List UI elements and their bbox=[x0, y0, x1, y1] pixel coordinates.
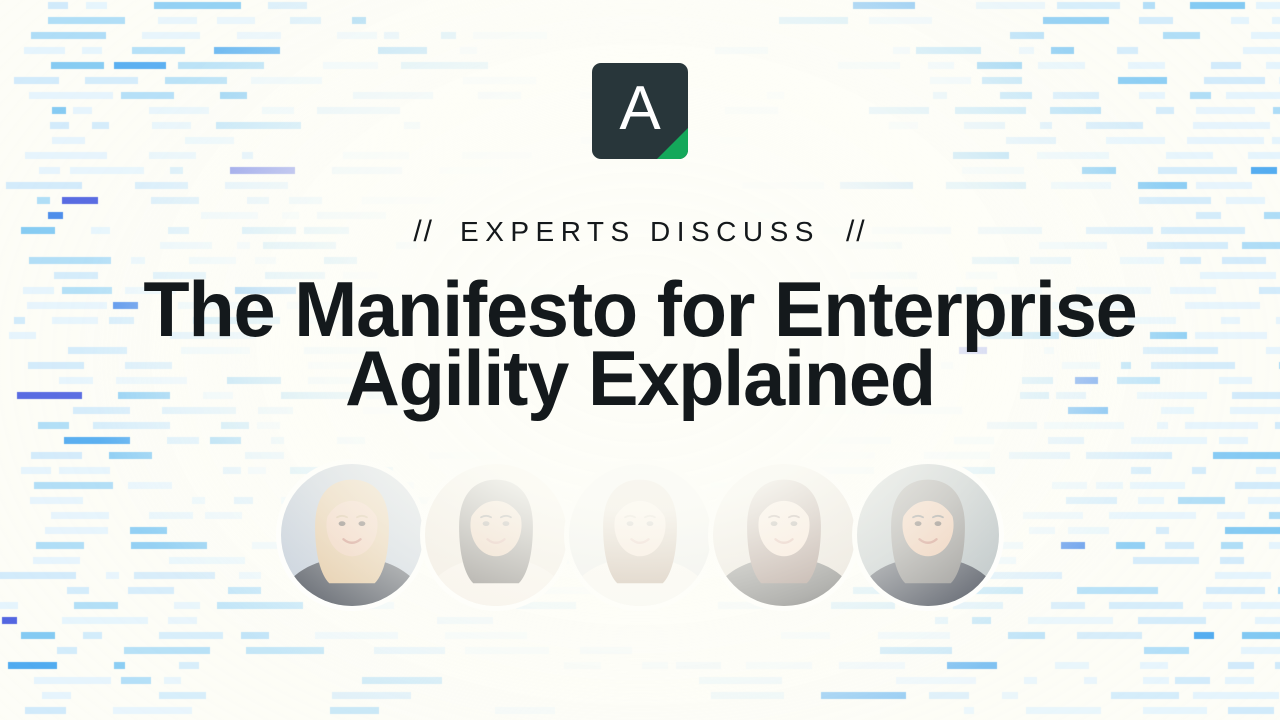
eyebrow-label: EXPERTS DISCUSS bbox=[460, 218, 820, 246]
slash-right-icon: // bbox=[846, 217, 867, 247]
page-title: The Manifesto for Enterprise Agility Exp… bbox=[39, 275, 1242, 412]
folded-corner-icon bbox=[657, 128, 688, 159]
slash-left-icon: // bbox=[413, 217, 434, 247]
eyebrow: // EXPERTS DISCUSS // bbox=[413, 217, 866, 247]
logo-letter: A bbox=[619, 78, 660, 140]
promo-banner: A // EXPERTS DISCUSS // The Manifesto fo… bbox=[0, 0, 1280, 720]
banner-content: A // EXPERTS DISCUSS // The Manifesto fo… bbox=[0, 0, 1280, 720]
headline-line-2: Agility Explained bbox=[39, 344, 1242, 413]
brand-logo: A bbox=[592, 63, 688, 159]
